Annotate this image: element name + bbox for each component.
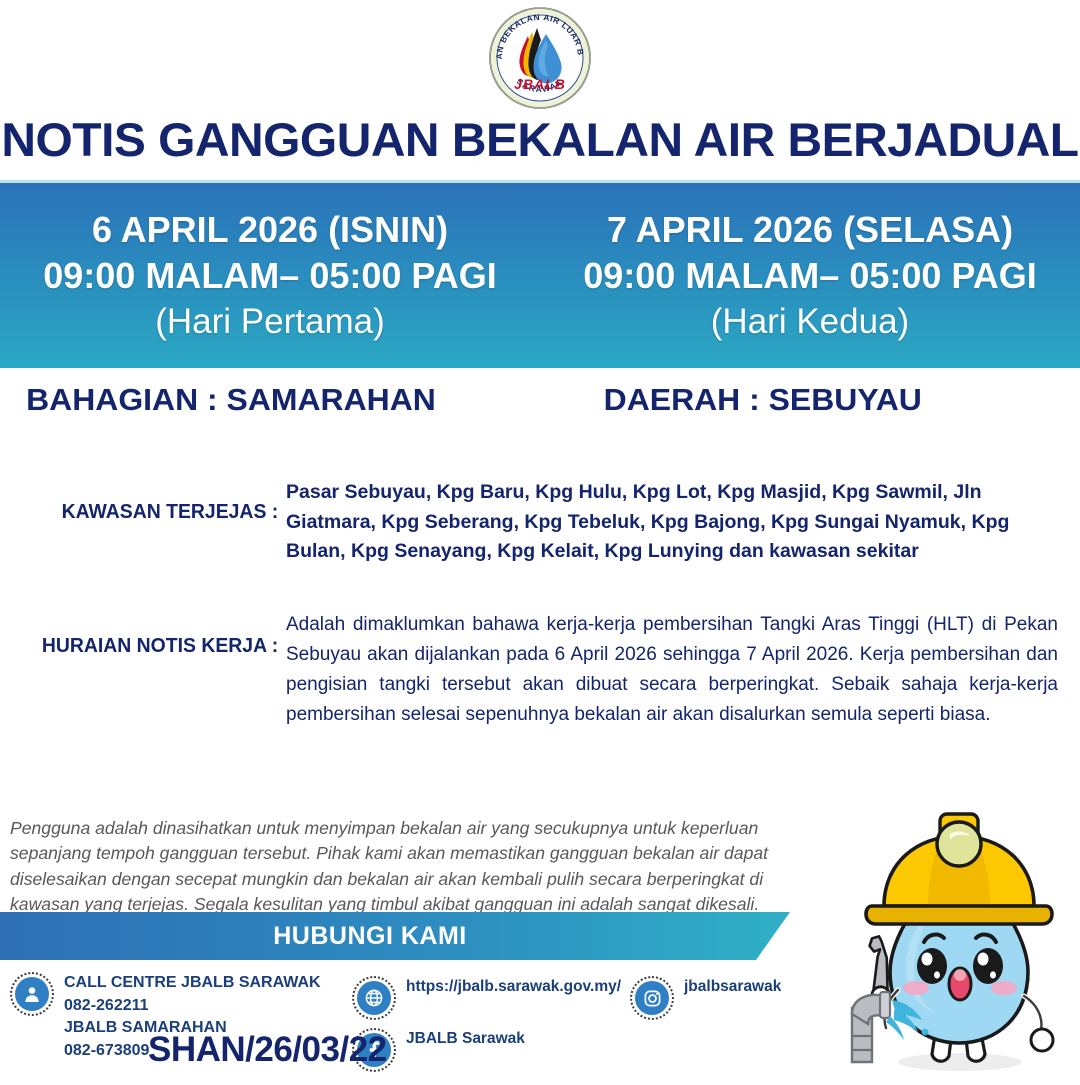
work-description-section: HURAIAN NOTIS KERJA : Adalah dimaklumkan… [0, 610, 1080, 730]
schedule-day-label: (Hari Kedua) [711, 299, 909, 345]
schedule-day-label: (Hari Pertama) [155, 299, 384, 345]
logo-container: JABATAN BEKALAN AIR LUAR BANDAR SARAWAK … [0, 6, 1080, 118]
work-description-label: HURAIAN NOTIS KERJA : [9, 610, 286, 658]
schedule-date: 6 APRIL 2026 (ISNIN) [92, 207, 448, 253]
schedule-day-2: 7 APRIL 2026 (SELASA) 09:00 MALAM– 05:00… [540, 183, 1080, 368]
person-icon [10, 972, 54, 1016]
instagram-handle[interactable]: jbalbsarawak [684, 976, 781, 998]
schedule-time: 09:00 MALAM– 05:00 PAGI [583, 253, 1036, 299]
call-centre-name: CALL CENTRE JBALB SARAWAK [64, 972, 321, 995]
work-description-value: Adalah dimaklumkan bahawa kerja-kerja pe… [286, 610, 1058, 730]
contact-instagram[interactable]: jbalbsarawak [630, 976, 781, 1020]
schedule-date: 7 APRIL 2026 (SELASA) [607, 207, 1013, 253]
water-droplet-mascot-icon [828, 800, 1080, 1080]
district-label: DAERAH : SEBUYAU [524, 382, 1080, 426]
reference-code: SHAN/26/03/22 [148, 1030, 387, 1070]
schedule-day-1: 6 APRIL 2026 (ISNIN) 09:00 MALAM– 05:00 … [0, 183, 540, 368]
page-title: NOTIS GANGGUAN BEKALAN AIR BERJADUAL [0, 112, 1080, 167]
affected-areas-section: KAWASAN TERJEJAS : Pasar Sebuyau, Kpg Ba… [0, 478, 1080, 567]
contact-website[interactable]: https://jbalb.sarawak.gov.my/ [352, 976, 621, 1020]
schedule-time: 09:00 MALAM– 05:00 PAGI [43, 253, 496, 299]
affected-areas-label: KAWASAN TERJEJAS : [9, 478, 286, 524]
location-row: BAHAGIAN : SAMARAHAN DAERAH : SEBUYAU [0, 382, 1080, 426]
instagram-icon [630, 976, 674, 1020]
affected-areas-value: Pasar Sebuyau, Kpg Baru, Kpg Hulu, Kpg L… [286, 478, 1058, 567]
schedule-band: 6 APRIL 2026 (ISNIN) 09:00 MALAM– 05:00 … [0, 180, 1080, 368]
svg-text:JBALB: JBALB [514, 76, 566, 92]
advisory-text: Pengguna adalah dinasihatkan untuk menyi… [10, 816, 800, 917]
jbalb-logo-icon: JABATAN BEKALAN AIR LUAR BANDAR SARAWAK … [488, 6, 592, 110]
division-label: BAHAGIAN : SAMARAHAN [0, 382, 540, 426]
facebook-handle[interactable]: JBALB Sarawak [406, 1028, 525, 1050]
contact-banner-title: HUBUNGI KAMI [0, 912, 740, 960]
call-centre-phone: 082-262211 [64, 995, 321, 1018]
globe-icon [352, 976, 396, 1020]
website-url[interactable]: https://jbalb.sarawak.gov.my/ [406, 976, 621, 998]
